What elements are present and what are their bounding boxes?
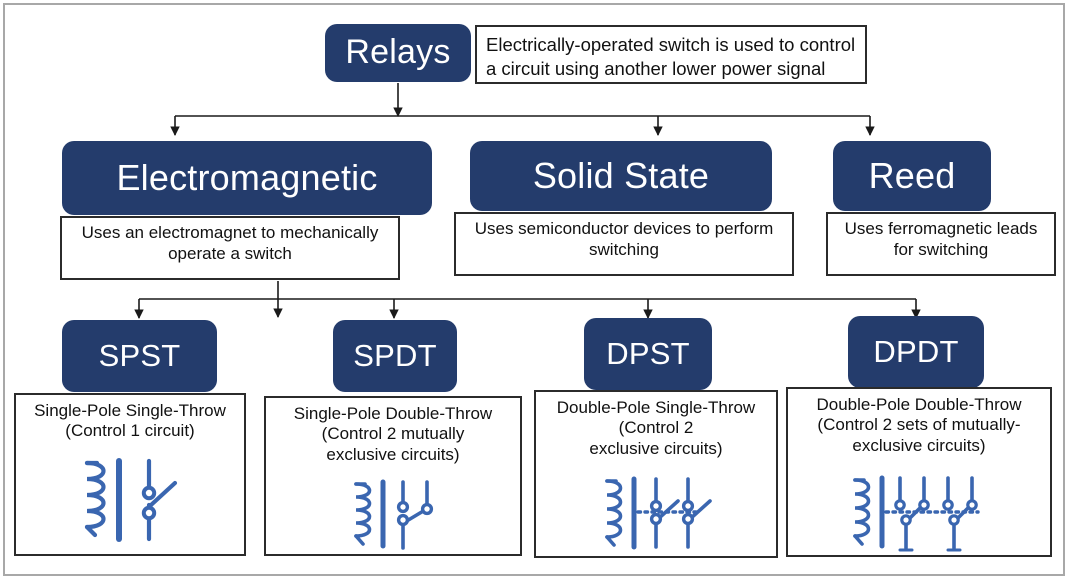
- node-dpst[interactable]: DPST: [584, 318, 712, 390]
- relay-classification-diagram: Relays Electrically-operated switch is u…: [0, 0, 1068, 579]
- leaf-dpst-text: Double-Pole Single-Throw (Control 2 excl…: [540, 398, 772, 459]
- node-electromagnetic-label: Electromagnetic: [116, 159, 377, 197]
- node-spst[interactable]: SPST: [62, 320, 217, 392]
- desc-reed-text: Uses ferromagnetic leads for switching: [834, 219, 1048, 260]
- connector-tier3-bus: [139, 299, 916, 318]
- node-dpst-label: DPST: [606, 338, 689, 371]
- node-reed-label: Reed: [869, 157, 956, 195]
- callout-relays-text: Electrically-operated switch is used to …: [486, 33, 856, 80]
- node-dpdt-label: DPDT: [873, 336, 958, 369]
- node-solid-state[interactable]: Solid State: [470, 141, 772, 211]
- desc-reed: Uses ferromagnetic leads for switching: [826, 212, 1056, 276]
- node-spdt-label: SPDT: [353, 340, 436, 373]
- dpdt-relay-symbol: [788, 474, 1050, 554]
- leaf-spst: Single-Pole Single-Throw (Control 1 circ…: [14, 393, 246, 556]
- leaf-dpst: Double-Pole Single-Throw (Control 2 excl…: [534, 390, 778, 558]
- node-electromagnetic[interactable]: Electromagnetic: [62, 141, 432, 215]
- node-relays[interactable]: Relays: [325, 24, 471, 82]
- leaf-spdt-text: Single-Pole Double-Throw (Control 2 mutu…: [270, 404, 516, 465]
- node-reed[interactable]: Reed: [833, 141, 991, 211]
- spdt-relay-symbol: [266, 478, 520, 550]
- node-relays-label: Relays: [345, 35, 450, 71]
- dpst-relay-symbol: [536, 475, 776, 551]
- leaf-spdt: Single-Pole Double-Throw (Control 2 mutu…: [264, 396, 522, 556]
- desc-solid-state-text: Uses semiconductor devices to perform sw…: [462, 219, 786, 260]
- spst-relay-symbol: [16, 455, 244, 545]
- leaf-dpdt: Double-Pole Double-Throw (Control 2 sets…: [786, 387, 1052, 557]
- desc-electromagnetic-text: Uses an electromagnet to mechanically op…: [68, 223, 392, 264]
- leaf-dpdt-text: Double-Pole Double-Throw (Control 2 sets…: [792, 395, 1046, 456]
- node-dpdt[interactable]: DPDT: [848, 316, 984, 388]
- node-spdt[interactable]: SPDT: [333, 320, 457, 392]
- node-solid-state-label: Solid State: [533, 157, 709, 195]
- desc-electromagnetic: Uses an electromagnet to mechanically op…: [60, 216, 400, 280]
- node-spst-label: SPST: [99, 340, 181, 373]
- desc-solid-state: Uses semiconductor devices to perform sw…: [454, 212, 794, 276]
- callout-relays-description: Electrically-operated switch is used to …: [475, 25, 867, 84]
- connector-tier2-bus: [175, 116, 870, 135]
- leaf-spst-text: Single-Pole Single-Throw (Control 1 circ…: [20, 401, 240, 442]
